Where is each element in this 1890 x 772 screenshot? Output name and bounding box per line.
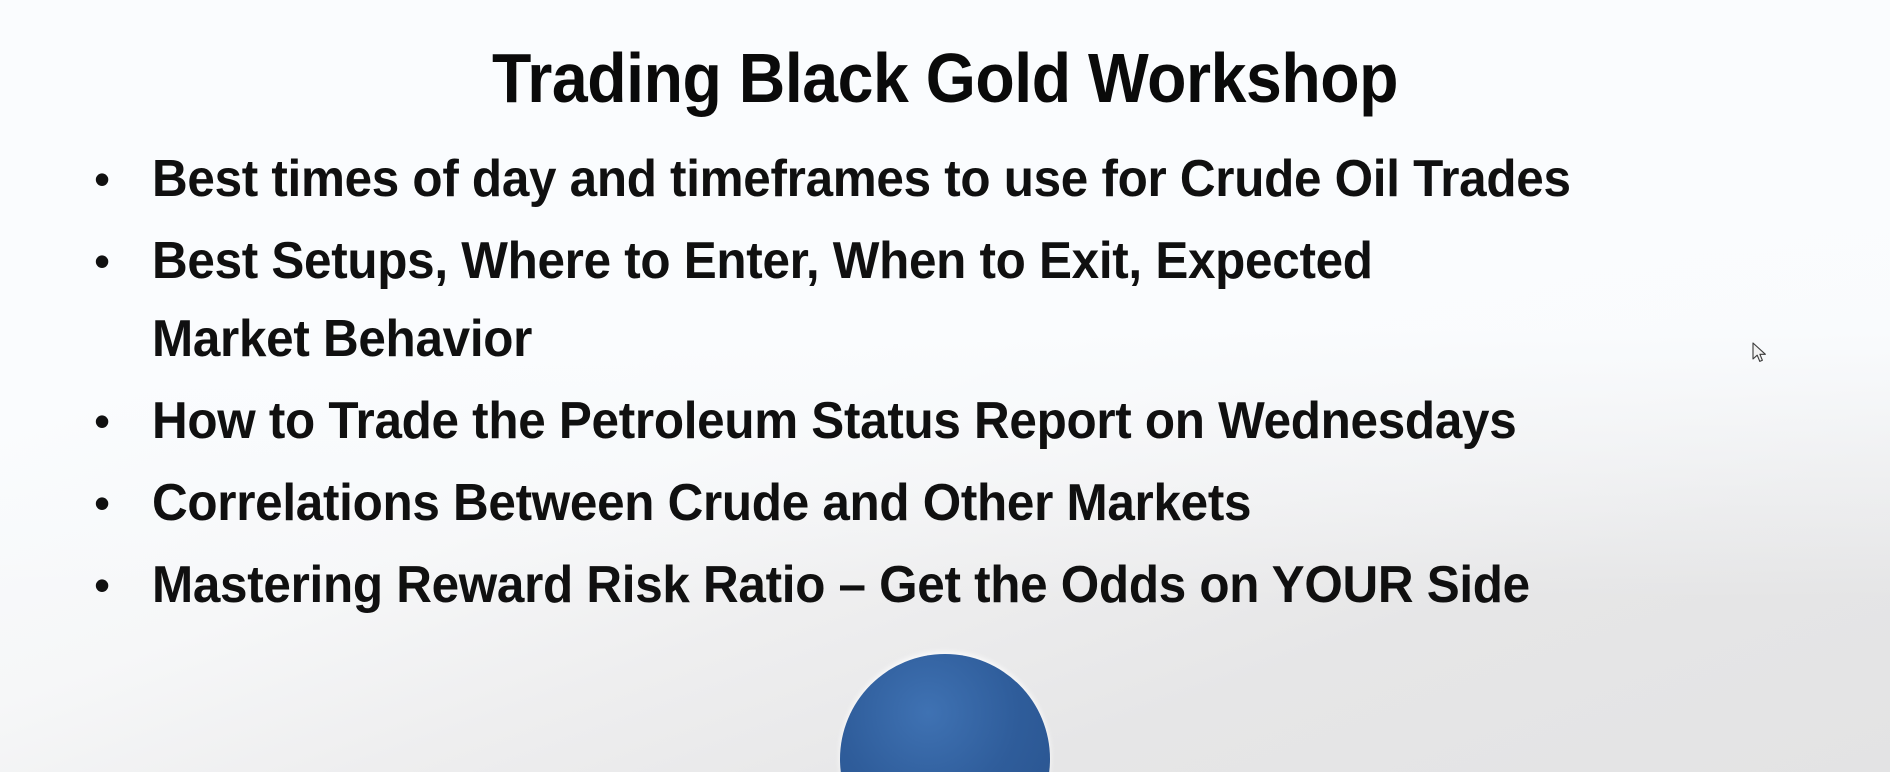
list-item: • Best Setups, Where to Enter, When to E… — [70, 222, 1870, 378]
bullet-point-icon: • — [70, 464, 152, 542]
list-item-label: Mastering Reward Risk Ratio – Get the Od… — [152, 546, 1784, 624]
bullet-point-icon: • — [70, 140, 152, 218]
bullet-point-icon: • — [70, 546, 152, 624]
slide-decoration-circle — [840, 654, 1050, 772]
presentation-slide: Trading Black Gold Workshop • Best times… — [0, 0, 1890, 772]
list-item: • Correlations Between Crude and Other M… — [70, 464, 1870, 542]
page-title: Trading Black Gold Workshop — [76, 38, 1815, 118]
list-item: • Mastering Reward Risk Ratio – Get the … — [70, 546, 1870, 624]
list-item: • How to Trade the Petroleum Status Repo… — [70, 382, 1870, 460]
bullet-list: • Best times of day and timeframes to us… — [70, 140, 1870, 628]
list-item-label: Correlations Between Crude and Other Mar… — [152, 464, 1784, 542]
list-item-label: Best times of day and timeframes to use … — [152, 140, 1784, 218]
list-item-label: Best Setups, Where to Enter, When to Exi… — [152, 222, 1539, 378]
list-item: • Best times of day and timeframes to us… — [70, 140, 1870, 218]
bullet-point-icon: • — [70, 222, 152, 300]
list-item-label: How to Trade the Petroleum Status Report… — [152, 382, 1784, 460]
bullet-point-icon: • — [70, 382, 152, 460]
